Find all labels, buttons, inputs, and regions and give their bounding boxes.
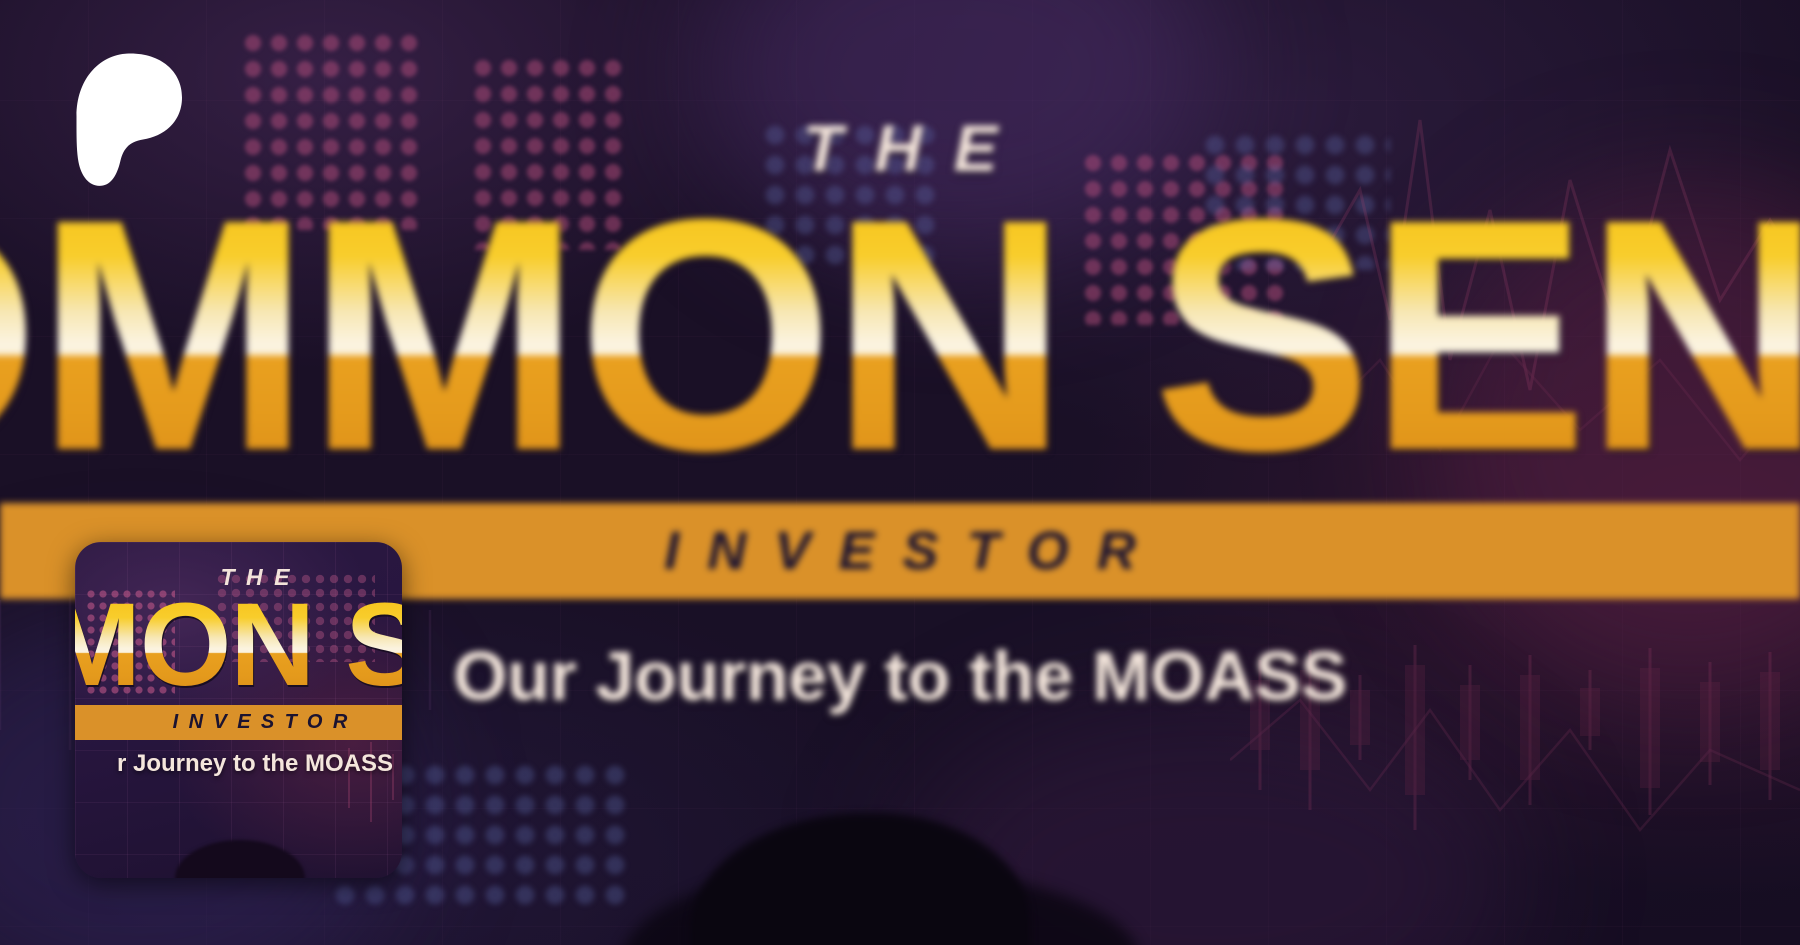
banner-stage: THE COMMON SENSE INVESTOR Our Journey to… — [0, 0, 1800, 945]
thumbnail-investor-label: INVESTOR — [162, 711, 357, 734]
thumbnail-wordmark: COMMON SENSE — [75, 596, 402, 695]
thumbnail-tagline: r Journey to the MOASS — [117, 750, 393, 778]
banner-investor-label: INVESTOR — [636, 520, 1164, 582]
artwork-thumbnail-card[interactable]: THE COMMON SENSE INVESTOR r Journey to t… — [75, 542, 402, 878]
patreon-logo[interactable] — [75, 52, 185, 188]
patreon-p-icon — [75, 52, 185, 188]
thumbnail-investor-band: INVESTOR — [75, 705, 402, 740]
thumbnail-banner-artwork: THE COMMON SENSE INVESTOR r Journey to t… — [75, 542, 402, 878]
banner-tagline: Our Journey to the MOASS — [453, 636, 1347, 716]
thumbnail-silhouette — [175, 840, 305, 878]
banner-wordmark: COMMON SENSE — [0, 196, 1800, 473]
